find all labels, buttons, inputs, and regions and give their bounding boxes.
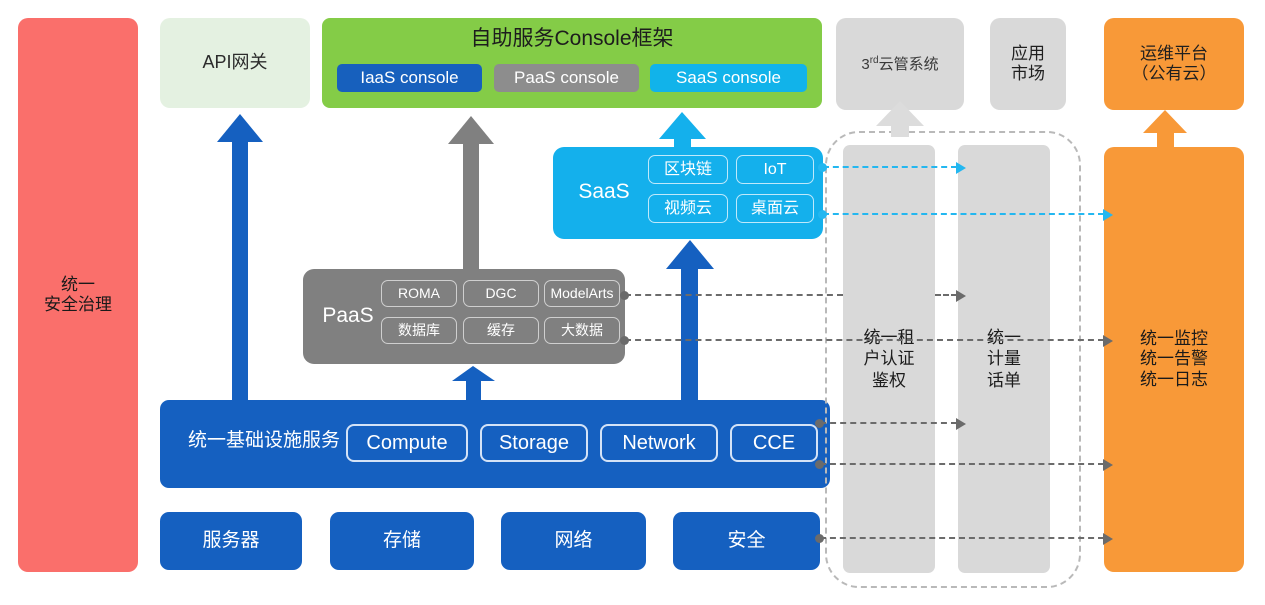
paas-console-pill[interactable]: PaaS console bbox=[494, 64, 639, 92]
hardware-box-network[interactable]: 网络 bbox=[501, 512, 646, 570]
dashed-infra-to-ops-platform bbox=[820, 463, 1104, 465]
dashed-infra-to-metering bbox=[820, 422, 957, 424]
connector-arrowhead bbox=[1103, 335, 1113, 347]
infra-chip-network[interactable]: Network bbox=[600, 424, 718, 462]
saas-chip-iot[interactable]: IoT bbox=[736, 155, 814, 184]
connector-dot bbox=[815, 460, 824, 469]
third-party-superscript: rd bbox=[870, 55, 879, 66]
connector-arrowhead bbox=[956, 290, 966, 302]
dashed-saas-to-metering bbox=[823, 166, 957, 168]
connector-dot bbox=[815, 419, 824, 428]
infra-chip-compute[interactable]: Compute bbox=[346, 424, 468, 462]
ops-platform-header-box: 运维平台 （公有云） bbox=[1104, 18, 1244, 110]
saas-title: SaaS bbox=[563, 179, 645, 204]
saas-panel: SaaS 区块链 IoT 视频云 桌面云 bbox=[553, 147, 823, 239]
infra-chip-cce[interactable]: CCE bbox=[730, 424, 818, 462]
unified-tenant-auth-column: 统一租 户认证 鉴权 bbox=[843, 145, 935, 573]
hardware-box-security[interactable]: 安全 bbox=[673, 512, 820, 570]
connector-arrowhead bbox=[1103, 459, 1113, 471]
arrow-saas-to-console bbox=[659, 112, 706, 149]
connector-dot bbox=[815, 534, 824, 543]
connector-arrowhead bbox=[1103, 209, 1113, 221]
infra-chip-storage[interactable]: Storage bbox=[480, 424, 588, 462]
arrow-paas-to-console bbox=[448, 116, 494, 270]
arrow-infra-to-paas bbox=[452, 366, 495, 401]
iaas-console-pill[interactable]: IaaS console bbox=[337, 64, 482, 92]
api-gateway-box: API网关 bbox=[160, 18, 310, 108]
dashed-saas-to-ops-platform bbox=[823, 213, 1104, 215]
dashed-paas-to-ops-platform bbox=[625, 339, 1104, 341]
connector-arrowhead bbox=[956, 418, 966, 430]
ops-platform-body-box: 统一监控 统一告警 统一日志 bbox=[1104, 147, 1244, 572]
console-framework-title: 自助服务Console框架 bbox=[322, 26, 822, 51]
unified-metering-billing-column: 统一 计量 话单 bbox=[958, 145, 1050, 573]
saas-chip-blockchain[interactable]: 区块链 bbox=[648, 155, 728, 184]
hardware-box-storage[interactable]: 存储 bbox=[330, 512, 474, 570]
paas-chip-database[interactable]: 数据库 bbox=[381, 317, 457, 344]
connector-arrowhead bbox=[956, 162, 966, 174]
third-party-cloud-mgmt-box: 3rd云管系统 bbox=[836, 18, 964, 110]
dashed-hardware-to-ops-platform bbox=[820, 537, 1104, 539]
hardware-box-server[interactable]: 服务器 bbox=[160, 512, 302, 570]
app-market-box: 应用 市场 bbox=[990, 18, 1066, 110]
arrow-infra-to-saas bbox=[666, 240, 714, 401]
paas-panel: PaaS ROMA DGC ModelArts 数据库 缓存 大数据 bbox=[303, 269, 625, 364]
arrow-infra-to-api-gateway bbox=[217, 114, 263, 400]
saas-console-pill[interactable]: SaaS console bbox=[650, 64, 807, 92]
paas-chip-cache[interactable]: 缓存 bbox=[463, 317, 539, 344]
connector-dot bbox=[818, 210, 827, 219]
connector-dot bbox=[620, 336, 629, 345]
infrastructure-title: 统一基础设施服务 bbox=[174, 430, 354, 453]
connector-dot bbox=[818, 163, 827, 172]
paas-chip-roma[interactable]: ROMA bbox=[381, 280, 457, 307]
architecture-diagram: 统一 安全治理 API网关 自助服务Console框架 IaaS console… bbox=[0, 0, 1265, 605]
third-party-label: 3rd云管系统 bbox=[861, 55, 938, 74]
arrow-ops-body-to-ops-header bbox=[1143, 110, 1187, 147]
paas-title: PaaS bbox=[309, 303, 387, 328]
console-framework-panel: 自助服务Console框架 IaaS console PaaS console … bbox=[322, 18, 822, 108]
saas-chip-video-cloud[interactable]: 视频云 bbox=[648, 194, 728, 223]
dashed-auth-to-metering bbox=[935, 294, 957, 296]
paas-chip-bigdata[interactable]: 大数据 bbox=[544, 317, 620, 344]
dashed-paas-to-auth bbox=[625, 294, 843, 296]
saas-chip-desktop-cloud[interactable]: 桌面云 bbox=[736, 194, 814, 223]
infrastructure-panel: 统一基础设施服务 Compute Storage Network CCE bbox=[160, 400, 830, 488]
paas-chip-modelarts[interactable]: ModelArts bbox=[544, 280, 620, 307]
connector-dot bbox=[620, 291, 629, 300]
connector-arrowhead bbox=[1103, 533, 1113, 545]
paas-chip-dgc[interactable]: DGC bbox=[463, 280, 539, 307]
security-governance-panel: 统一 安全治理 bbox=[18, 18, 138, 572]
